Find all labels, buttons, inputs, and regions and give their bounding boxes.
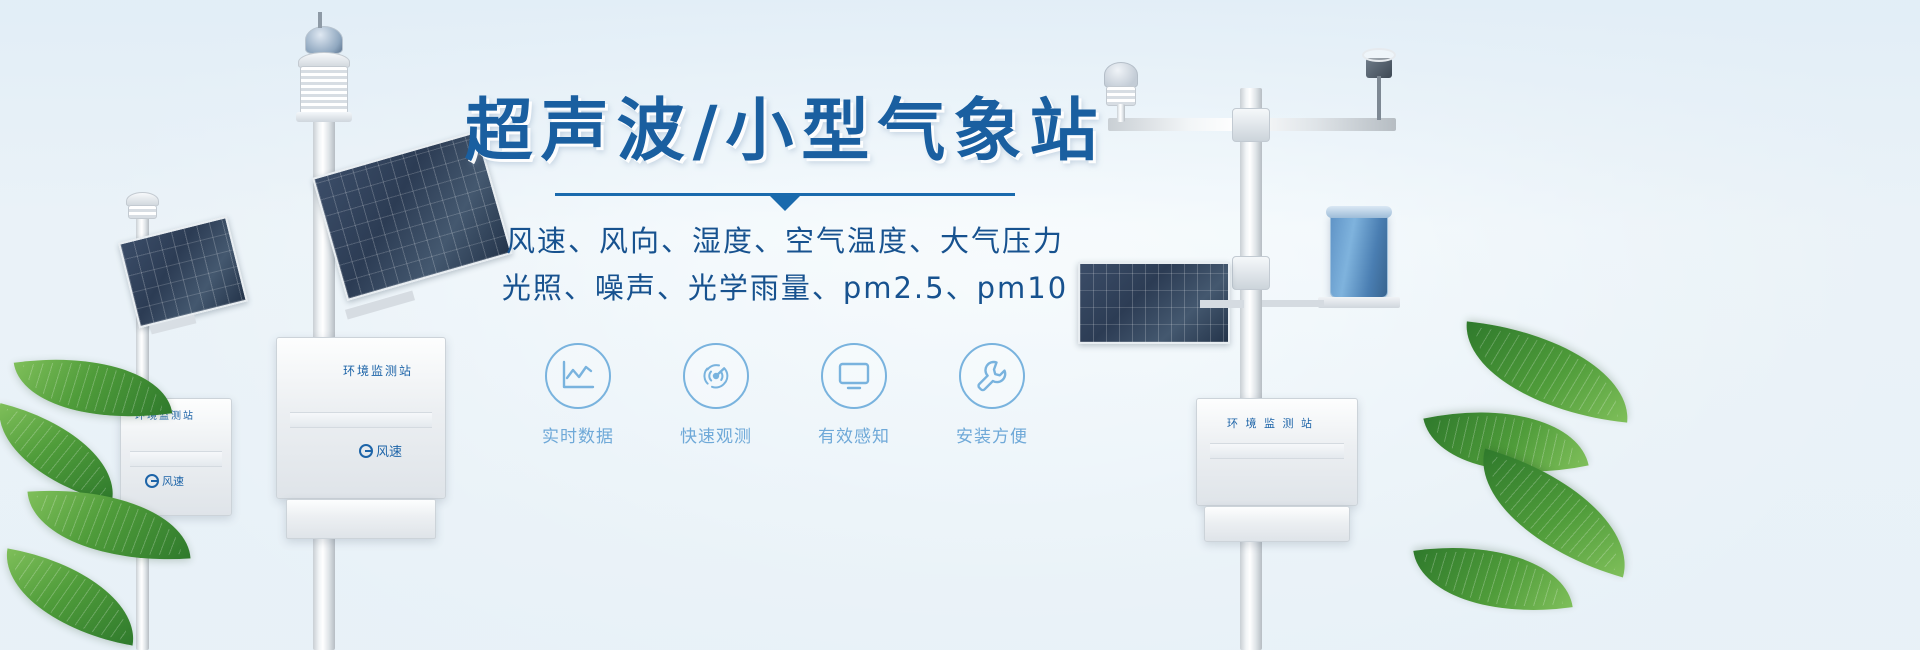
leaf-decoration bbox=[0, 403, 129, 503]
feature-item-realtime-data[interactable]: 实时数据 bbox=[535, 343, 621, 447]
wrench-icon bbox=[974, 358, 1010, 394]
radiation-shield bbox=[128, 205, 157, 219]
radiation-shield bbox=[300, 66, 348, 114]
rain-gauge-rim bbox=[1326, 206, 1392, 218]
mast-collar bbox=[1232, 108, 1270, 142]
mast-pole bbox=[1240, 88, 1262, 650]
feature-label: 实时数据 bbox=[542, 422, 614, 447]
feature-label: 安装方便 bbox=[956, 422, 1028, 447]
brand-logo-icon bbox=[145, 474, 159, 488]
sensor-dome bbox=[305, 26, 343, 54]
brand-logo-icon bbox=[359, 444, 373, 458]
feature-icon-circle bbox=[821, 343, 887, 409]
feature-list: 实时数据 bbox=[535, 343, 1035, 447]
line-chart-icon bbox=[560, 359, 596, 393]
radar-signal-icon bbox=[697, 357, 735, 395]
leaf-decoration bbox=[0, 548, 145, 645]
panel-bracket bbox=[1200, 300, 1244, 308]
monitor-cabinet: 环境监测站 风速 bbox=[276, 337, 446, 499]
brand-name: 风速 bbox=[376, 441, 402, 460]
cabinet-brand: 风速 bbox=[145, 473, 184, 489]
cabinet-base bbox=[1204, 506, 1350, 542]
anemometer-cups bbox=[1362, 48, 1396, 62]
monitor-icon bbox=[835, 360, 873, 392]
divider-triangle-icon bbox=[770, 196, 800, 211]
feature-icon-circle bbox=[683, 343, 749, 409]
feature-icon-circle bbox=[959, 343, 1025, 409]
leaf-decoration bbox=[1458, 321, 1636, 422]
cabinet-brand: 风速 bbox=[359, 441, 402, 460]
feature-label: 有效感知 bbox=[818, 422, 890, 447]
cabinet-tag-label: 环境监测站 bbox=[343, 362, 413, 379]
title-divider bbox=[555, 189, 1015, 211]
sensor-spike bbox=[318, 12, 322, 28]
vane-stem bbox=[1377, 76, 1381, 120]
subtitle-line-2: 光照、噪声、光学雨量、pm2.5、pm10 bbox=[502, 266, 1068, 311]
rain-gauge bbox=[1330, 212, 1388, 298]
page-title: 超声波/小型气象站 bbox=[465, 96, 1106, 167]
product-banner: 环境监测站 风速 环境监测站 风速 bbox=[0, 0, 1920, 650]
rain-gauge-shelf bbox=[1318, 297, 1400, 308]
feature-item-effective-sensing[interactable]: 有效感知 bbox=[811, 343, 897, 447]
shield-base bbox=[296, 112, 352, 122]
brand-name: 风速 bbox=[162, 473, 184, 489]
cabinet-strip bbox=[130, 451, 222, 467]
cabinet-base bbox=[286, 499, 436, 539]
feature-icon-circle bbox=[545, 343, 611, 409]
feature-item-easy-install[interactable]: 安装方便 bbox=[949, 343, 1035, 447]
cabinet-tag-label: 环 境 监 测 站 bbox=[1227, 415, 1314, 431]
mast-collar-lower bbox=[1232, 256, 1270, 290]
banner-content: 超声波/小型气象站 风速、风向、湿度、空气温度、大气压力 光照、噪声、光学雨量、… bbox=[445, 96, 1125, 447]
monitor-cabinet: 环 境 监 测 站 bbox=[1196, 398, 1358, 506]
feature-item-fast-observation[interactable]: 快速观测 bbox=[673, 343, 759, 447]
shelf-bracket bbox=[1262, 300, 1324, 307]
cabinet-strip bbox=[290, 412, 431, 428]
subtitle-line-1: 风速、风向、湿度、空气温度、大气压力 bbox=[506, 219, 1064, 264]
feature-label: 快速观测 bbox=[680, 422, 752, 447]
cabinet-strip bbox=[1210, 443, 1344, 459]
ultrasonic-anemometer-head bbox=[1104, 62, 1138, 88]
